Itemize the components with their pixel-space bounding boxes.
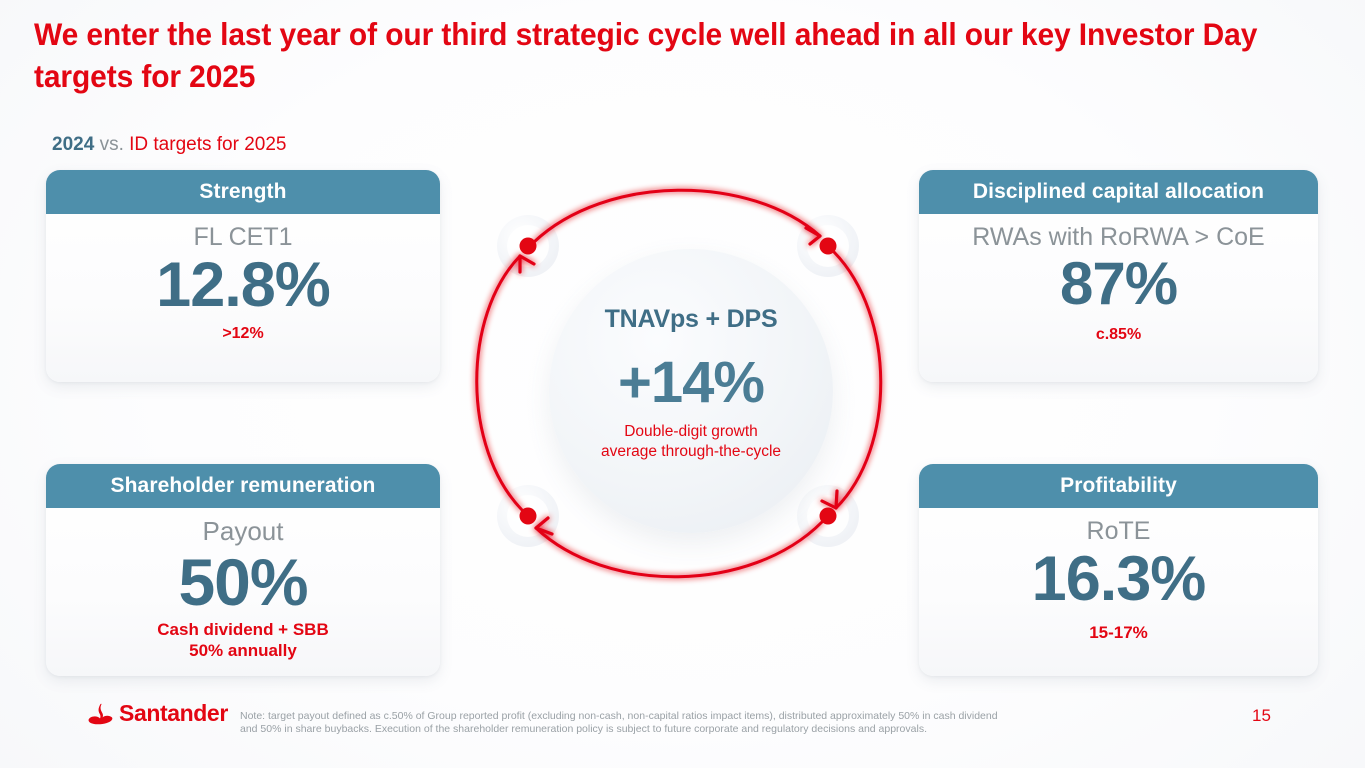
metric-label-payout: Payout <box>203 517 284 547</box>
legend-target-label: ID targets for 2025 <box>129 134 286 155</box>
metric-label-rote: RoTE <box>1087 517 1151 546</box>
santander-flame-icon <box>88 703 113 725</box>
footnote-line1: Note: target payout defined as c.50% of … <box>240 710 1180 723</box>
card-header-capital-allocation: Disciplined capital allocation <box>919 170 1318 214</box>
kpi-card-profitability: Profitability RoTE 16.3% 15-17% <box>919 464 1318 676</box>
card-body-profitability: RoTE 16.3% 15-17% <box>919 508 1318 676</box>
arrow-top <box>534 190 820 242</box>
card-body-capital-allocation: RWAs with RoRWA > CoE 87% c.85% <box>919 214 1318 382</box>
metric-value-rote: 16.3% <box>1032 548 1206 611</box>
page-title: We enter the last year of our third stra… <box>34 14 1260 97</box>
core-value: +14% <box>618 354 764 412</box>
footnote-line2: and 50% in share buybacks. Execution of … <box>240 723 1180 736</box>
legend-year: 2024 <box>52 134 94 155</box>
footnote: Note: target payout defined as c.50% of … <box>240 710 1180 737</box>
node-dot-bottom-right <box>820 508 837 525</box>
metric-target-payout-line1: Cash dividend + SBB <box>157 619 328 640</box>
santander-logo: Santander <box>88 702 228 725</box>
metric-target-payout: Cash dividend + SBB 50% annually <box>157 619 328 662</box>
legend: 2024 vs. ID targets for 2025 <box>52 134 287 156</box>
card-body-strength: FL CET1 12.8% >12% <box>46 214 440 382</box>
santander-wordmark: Santander <box>119 702 228 725</box>
kpi-card-capital-allocation: Disciplined capital allocation RWAs with… <box>919 170 1318 382</box>
metric-target-rote: 15-17% <box>1089 622 1148 643</box>
metric-value-fl-cet1: 12.8% <box>156 254 330 317</box>
arrow-left <box>477 256 522 510</box>
metric-label-fl-cet1: FL CET1 <box>193 223 292 252</box>
core-title: TNAVps + DPS <box>605 307 778 332</box>
card-header-shareholder-remuneration: Shareholder remuneration <box>46 464 440 508</box>
card-body-shareholder-remuneration: Payout 50% Cash dividend + SBB 50% annua… <box>46 508 440 676</box>
metric-label-rwas: RWAs with RoRWA > CoE <box>972 223 1264 252</box>
legend-separator: vs. <box>100 134 124 155</box>
core-subtext: Double-digit growth average through-the-… <box>601 422 781 462</box>
arrow-right <box>834 252 881 508</box>
cycle-diagram: TNAVps + DPS +14% Double-digit growth av… <box>466 166 916 616</box>
page-number: 15 <box>1252 706 1271 726</box>
node-dot-top-left <box>520 238 537 255</box>
cycle-core: TNAVps + DPS +14% Double-digit growth av… <box>549 249 833 533</box>
node-dot-top-right <box>820 238 837 255</box>
slide-canvas: We enter the last year of our third stra… <box>0 0 1365 768</box>
kpi-card-shareholder-remuneration: Shareholder remuneration Payout 50% Cash… <box>46 464 440 676</box>
node-dot-bottom-left <box>520 508 537 525</box>
metric-value-rwas: 87% <box>1060 254 1177 314</box>
core-subtext-line1: Double-digit growth <box>601 422 781 442</box>
metric-target-fl-cet1: >12% <box>222 324 263 344</box>
core-subtext-line2: average through-the-cycle <box>601 442 781 462</box>
card-header-strength: Strength <box>46 170 440 214</box>
metric-target-rwas: c.85% <box>1096 325 1141 345</box>
card-header-profitability: Profitability <box>919 464 1318 508</box>
kpi-card-strength: Strength FL CET1 12.8% >12% <box>46 170 440 382</box>
metric-value-payout: 50% <box>178 549 307 615</box>
metric-target-payout-line2: 50% annually <box>157 640 328 661</box>
